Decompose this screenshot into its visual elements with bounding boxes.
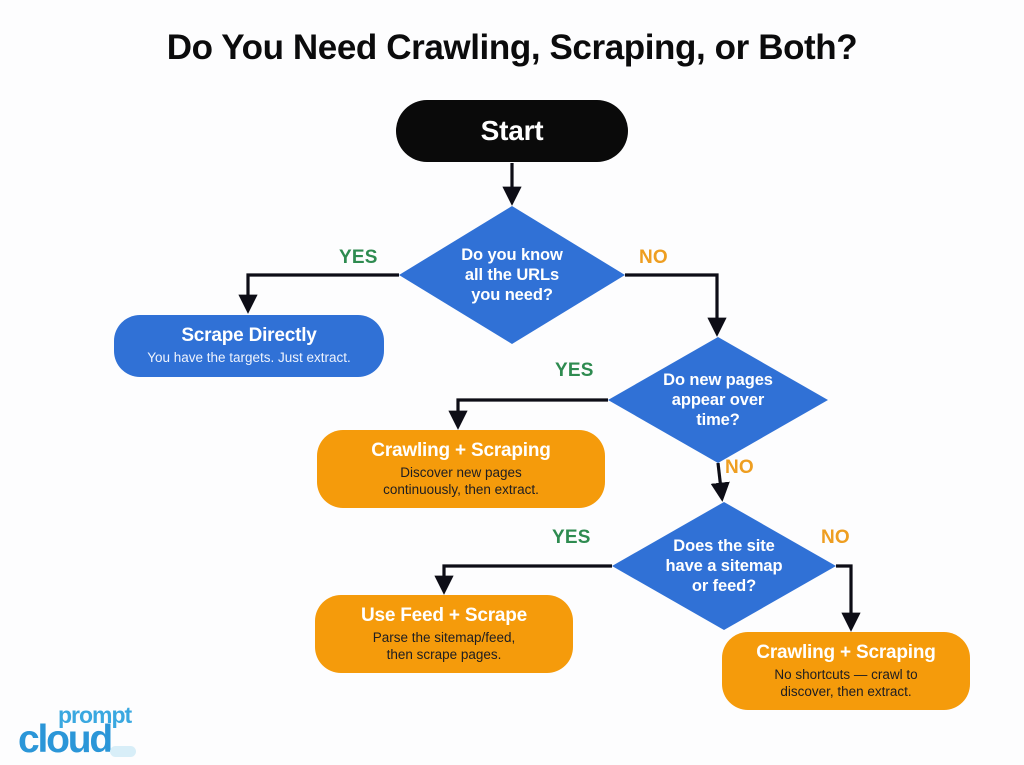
node-result-use-feed-scrape[interactable]: Use Feed + Scrape Parse the sitemap/feed… xyxy=(315,595,573,673)
node-result-crawling-scraping-noshortcuts[interactable]: Crawling + Scraping No shortcuts — crawl… xyxy=(722,632,970,710)
flowchart-canvas: Do You Need Crawling, Scraping, or Both? xyxy=(0,0,1024,765)
node-result-scrape-directly[interactable]: Scrape Directly You have the targets. Ju… xyxy=(114,315,384,377)
edge-label-urls-yes: YES xyxy=(339,247,378,269)
node-result-scrape-directly-subtitle: You have the targets. Just extract. xyxy=(147,350,351,367)
edge-label-new-pages-no: NO xyxy=(725,457,754,479)
node-result-crawling-scraping-continuous[interactable]: Crawling + Scraping Discover new pages c… xyxy=(317,430,605,508)
edge-newpages-yes xyxy=(458,400,608,426)
edge-label-sitemap-no: NO xyxy=(821,527,850,549)
node-result-crawling-scraping-noshortcuts-subtitle: No shortcuts — crawl to discover, then e… xyxy=(774,667,917,701)
page-title: Do You Need Crawling, Scraping, or Both? xyxy=(0,28,1024,68)
node-result-crawling-scraping-noshortcuts-title: Crawling + Scraping xyxy=(756,642,935,664)
node-result-scrape-directly-title: Scrape Directly xyxy=(181,325,316,347)
edge-urls-yes xyxy=(248,275,399,310)
edge-label-urls-no: NO xyxy=(639,247,668,269)
cloud-mark-icon xyxy=(110,746,136,757)
node-decision-sitemap-text: Does the site have a sitemap or feed? xyxy=(666,536,783,596)
node-decision-sitemap[interactable]: Does the site have a sitemap or feed? xyxy=(612,502,836,630)
node-start-label: Start xyxy=(481,115,544,147)
logo-cloud-text: cloud xyxy=(18,718,111,762)
edge-urls-no xyxy=(625,275,717,333)
node-decision-new-pages[interactable]: Do new pages appear over time? xyxy=(608,337,828,463)
node-decision-know-urls-text: Do you know all the URLs you need? xyxy=(461,245,563,305)
node-start[interactable]: Start xyxy=(396,100,628,162)
node-result-use-feed-scrape-subtitle: Parse the sitemap/feed, then scrape page… xyxy=(373,630,516,664)
node-result-use-feed-scrape-title: Use Feed + Scrape xyxy=(361,605,527,627)
edge-newpages-no xyxy=(718,463,722,498)
node-result-crawling-scraping-continuous-subtitle: Discover new pages continuously, then ex… xyxy=(383,465,539,499)
edge-sitemap-no xyxy=(836,566,851,628)
node-result-crawling-scraping-continuous-title: Crawling + Scraping xyxy=(371,440,550,462)
node-decision-know-urls[interactable]: Do you know all the URLs you need? xyxy=(399,206,625,344)
edge-label-new-pages-yes: YES xyxy=(555,360,594,382)
promptcloud-logo: prompt cloud xyxy=(18,702,158,760)
edge-sitemap-yes xyxy=(444,566,612,591)
node-decision-new-pages-text: Do new pages appear over time? xyxy=(663,370,773,430)
edge-label-sitemap-yes: YES xyxy=(552,527,591,549)
